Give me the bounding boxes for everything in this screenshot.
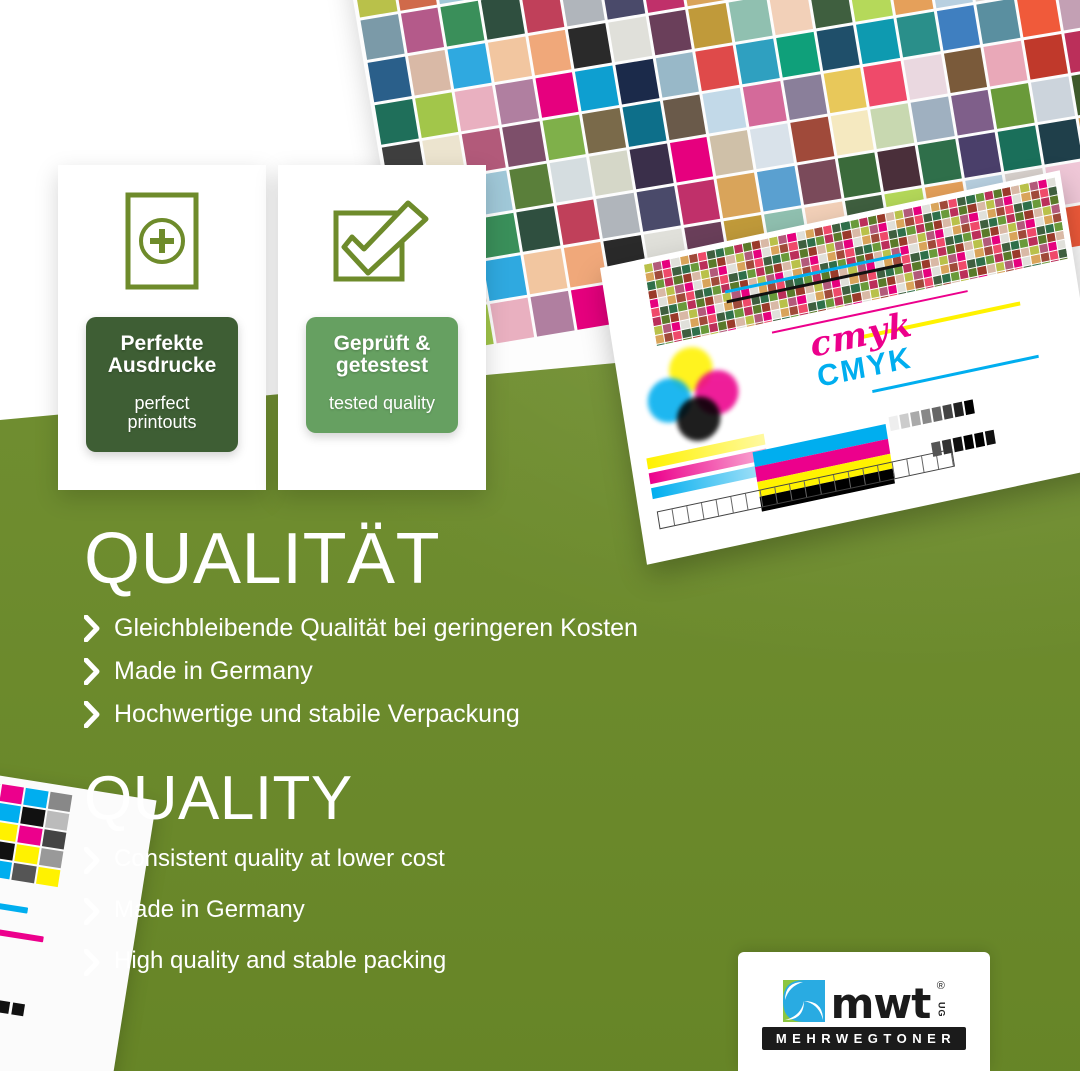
micro-swatch bbox=[997, 271, 1006, 281]
color-swatch bbox=[689, 3, 733, 49]
registered-trademark-icon: ® bbox=[937, 981, 945, 992]
micro-swatch bbox=[1033, 263, 1042, 273]
logo-wordmark: mwt bbox=[831, 987, 931, 1021]
color-swatch bbox=[521, 0, 565, 33]
color-swatch bbox=[1031, 76, 1075, 122]
color-swatch bbox=[816, 25, 860, 71]
marketing-banner: cmyk CMYK bbox=[0, 0, 1080, 1071]
color-swatch bbox=[455, 86, 499, 132]
color-swatch bbox=[575, 65, 619, 111]
color-swatch bbox=[743, 81, 787, 127]
color-swatch bbox=[710, 130, 754, 176]
color-swatch bbox=[401, 8, 445, 54]
micro-swatch bbox=[863, 299, 872, 309]
micro-swatch bbox=[934, 284, 943, 294]
card-subtitle-line1: perfect bbox=[94, 394, 230, 413]
card-subtitle-line1: tested quality bbox=[314, 394, 450, 413]
color-swatch bbox=[516, 206, 560, 252]
micro-swatch bbox=[1042, 261, 1051, 271]
bullet-text: Made in Germany bbox=[114, 654, 313, 688]
list-item: Gleichbleibende Qualität bei geringeren … bbox=[84, 611, 944, 645]
logo-legal-form: UG bbox=[936, 1002, 945, 1018]
micro-swatch bbox=[907, 290, 916, 300]
bullet-list-de: Gleichbleibende Qualität bei geringeren … bbox=[84, 611, 944, 731]
color-swatch bbox=[597, 193, 641, 239]
color-swatch bbox=[830, 110, 874, 156]
color-swatch bbox=[608, 16, 652, 62]
micro-swatch bbox=[925, 286, 934, 296]
micro-swatch bbox=[898, 292, 907, 302]
micro-swatch bbox=[872, 298, 881, 308]
color-swatch bbox=[936, 5, 980, 51]
logo-row: mwt ® UG bbox=[783, 980, 946, 1022]
micro-swatch bbox=[988, 273, 997, 283]
micro-swatch bbox=[782, 317, 791, 327]
color-swatch bbox=[823, 68, 867, 114]
feature-card-perfect-printouts[interactable]: Perfekte Ausdrucke perfect printouts bbox=[58, 165, 266, 490]
list-item: Consistent quality at lower cost bbox=[84, 843, 944, 876]
micro-swatch bbox=[854, 301, 863, 311]
micro-swatch bbox=[1060, 258, 1068, 268]
color-swatch bbox=[1024, 34, 1068, 80]
ink-rosette bbox=[637, 336, 759, 448]
color-swatch bbox=[360, 14, 404, 60]
color-swatch bbox=[870, 103, 914, 149]
micro-swatch bbox=[979, 275, 988, 285]
color-swatch bbox=[896, 12, 940, 58]
color-swatch bbox=[656, 52, 700, 98]
list-item: Hochwertige und stabile Verpackung bbox=[84, 697, 944, 731]
color-swatch bbox=[564, 242, 608, 288]
black-step-wedge bbox=[931, 430, 996, 457]
color-swatch bbox=[441, 1, 485, 47]
micro-swatch bbox=[737, 326, 746, 336]
color-swatch bbox=[837, 152, 881, 198]
grey-step-wedge bbox=[889, 399, 975, 431]
color-swatch bbox=[757, 166, 801, 212]
partial-sheet-swatches bbox=[0, 776, 72, 887]
color-swatch bbox=[523, 249, 567, 295]
micro-swatch bbox=[1024, 265, 1033, 275]
list-item: Made in Germany bbox=[84, 894, 944, 927]
chevron-right-icon bbox=[84, 949, 100, 976]
micro-swatch bbox=[746, 324, 755, 334]
copy-block: QUALITÄT Gleichbleibende Qualität bei ge… bbox=[84, 524, 944, 995]
color-swatch bbox=[531, 291, 575, 337]
list-item: Made in Germany bbox=[84, 654, 944, 688]
headline-de: QUALITÄT bbox=[84, 524, 944, 595]
card-title-line1: Geprüft & bbox=[314, 333, 450, 355]
color-swatch bbox=[408, 50, 452, 96]
color-swatch bbox=[582, 108, 626, 154]
bullet-text: Hochwertige und stabile Verpackung bbox=[114, 697, 520, 731]
color-swatch bbox=[677, 179, 721, 225]
partial-cyan-bar bbox=[0, 894, 28, 914]
micro-swatch bbox=[1051, 259, 1060, 269]
color-swatch bbox=[863, 61, 907, 107]
color-swatch bbox=[542, 115, 586, 161]
micro-swatch bbox=[675, 339, 684, 345]
color-swatch bbox=[561, 0, 605, 26]
color-swatch bbox=[849, 0, 893, 22]
micro-swatch bbox=[827, 307, 836, 317]
color-swatch bbox=[488, 36, 532, 82]
card-title-line2: getestest bbox=[314, 355, 450, 377]
chevron-right-icon bbox=[84, 898, 100, 925]
micro-swatch bbox=[952, 280, 961, 290]
color-swatch bbox=[856, 18, 900, 64]
color-swatch bbox=[769, 0, 813, 35]
bullet-text: Consistent quality at lower cost bbox=[114, 843, 445, 876]
color-swatch bbox=[615, 59, 659, 105]
partial-magenta-bar bbox=[0, 923, 44, 942]
color-swatch bbox=[998, 126, 1042, 172]
color-swatch bbox=[568, 23, 612, 69]
micro-swatch bbox=[970, 277, 979, 287]
partial-black-blocks bbox=[0, 998, 25, 1016]
color-swatch bbox=[903, 54, 947, 100]
micro-swatch bbox=[666, 341, 675, 346]
color-swatch bbox=[415, 92, 459, 138]
chevron-right-icon bbox=[84, 658, 100, 685]
micro-swatch bbox=[818, 309, 827, 319]
color-swatch bbox=[729, 0, 773, 42]
mwt-pinwheel-icon bbox=[783, 980, 825, 1022]
color-swatch bbox=[368, 57, 412, 103]
chevron-right-icon bbox=[84, 847, 100, 874]
color-swatch bbox=[663, 94, 707, 140]
color-swatch bbox=[717, 173, 761, 219]
micro-swatch bbox=[773, 318, 782, 328]
card-title-line2: Ausdrucke bbox=[94, 355, 230, 377]
color-swatch bbox=[797, 159, 841, 205]
color-swatch bbox=[918, 139, 962, 185]
color-swatch bbox=[549, 157, 593, 203]
color-swatch bbox=[648, 10, 692, 56]
color-swatch bbox=[703, 88, 747, 134]
logo-tagline: MEHRWEGTONER bbox=[762, 1027, 966, 1050]
color-swatch bbox=[984, 41, 1028, 87]
color-swatch bbox=[877, 146, 921, 192]
color-swatch bbox=[509, 164, 553, 210]
micro-swatch bbox=[961, 279, 970, 289]
color-swatch bbox=[958, 132, 1002, 178]
micro-swatch bbox=[880, 296, 889, 306]
micro-swatch bbox=[1015, 267, 1024, 277]
color-swatch bbox=[483, 255, 527, 301]
chevron-right-icon bbox=[84, 701, 100, 728]
color-swatch bbox=[556, 199, 600, 245]
color-swatch bbox=[750, 123, 794, 169]
card-subtitle-line2: printouts bbox=[94, 413, 230, 432]
color-swatch bbox=[736, 39, 780, 85]
micro-swatch bbox=[1006, 269, 1015, 279]
micro-swatch bbox=[916, 288, 925, 298]
color-swatch bbox=[623, 101, 667, 147]
micro-swatch bbox=[791, 315, 800, 325]
micro-swatch bbox=[755, 322, 764, 332]
color-swatch bbox=[951, 90, 995, 136]
feature-card-tested-quality[interactable]: Geprüft & getestest tested quality bbox=[278, 165, 486, 490]
color-swatch bbox=[670, 137, 714, 183]
color-swatch bbox=[783, 74, 827, 120]
color-swatch bbox=[809, 0, 853, 28]
color-swatch bbox=[375, 99, 419, 145]
micro-swatch bbox=[800, 313, 809, 323]
micro-swatch bbox=[657, 343, 666, 346]
feature-cards: Perfekte Ausdrucke perfect printouts bbox=[58, 165, 486, 490]
bullet-text: Made in Germany bbox=[114, 894, 305, 927]
color-swatch bbox=[944, 47, 988, 93]
card-title-line1: Perfekte bbox=[94, 333, 230, 355]
headline-en: QUALITY bbox=[84, 769, 944, 830]
checkbox-pencil-icon bbox=[278, 165, 486, 317]
color-swatch bbox=[630, 144, 674, 190]
micro-swatch bbox=[809, 311, 818, 321]
micro-swatch bbox=[845, 303, 854, 313]
micro-swatch bbox=[943, 282, 952, 292]
color-swatch bbox=[528, 30, 572, 76]
color-swatch bbox=[696, 45, 740, 91]
card-badge-dark: Perfekte Ausdrucke perfect printouts bbox=[86, 317, 238, 452]
color-swatch bbox=[977, 0, 1021, 44]
color-swatch bbox=[1057, 0, 1080, 31]
micro-swatch bbox=[889, 294, 898, 304]
color-swatch bbox=[495, 79, 539, 125]
card-badge-light: Geprüft & getestest tested quality bbox=[306, 317, 458, 433]
color-swatch bbox=[910, 97, 954, 143]
color-swatch bbox=[637, 186, 681, 232]
color-swatch bbox=[490, 298, 534, 344]
color-swatch bbox=[481, 0, 525, 40]
chevron-right-icon bbox=[84, 615, 100, 642]
bullet-text: High quality and stable packing bbox=[114, 945, 446, 978]
color-swatch bbox=[776, 32, 820, 78]
color-swatch bbox=[991, 83, 1035, 129]
logo-superscripts: ® UG bbox=[936, 981, 945, 1022]
micro-swatch bbox=[764, 320, 773, 330]
color-swatch bbox=[590, 150, 634, 196]
micro-swatch bbox=[684, 337, 693, 345]
color-swatch bbox=[502, 121, 546, 167]
color-swatch bbox=[1038, 119, 1080, 165]
color-swatch bbox=[448, 43, 492, 89]
color-swatch bbox=[535, 72, 579, 118]
color-swatch bbox=[1017, 0, 1061, 37]
document-plus-icon bbox=[58, 165, 266, 317]
bullet-text: Gleichbleibende Qualität bei geringeren … bbox=[114, 611, 638, 645]
color-swatch bbox=[790, 117, 834, 163]
company-logo[interactable]: mwt ® UG MEHRWEGTONER bbox=[738, 952, 990, 1071]
micro-swatch bbox=[836, 305, 845, 315]
